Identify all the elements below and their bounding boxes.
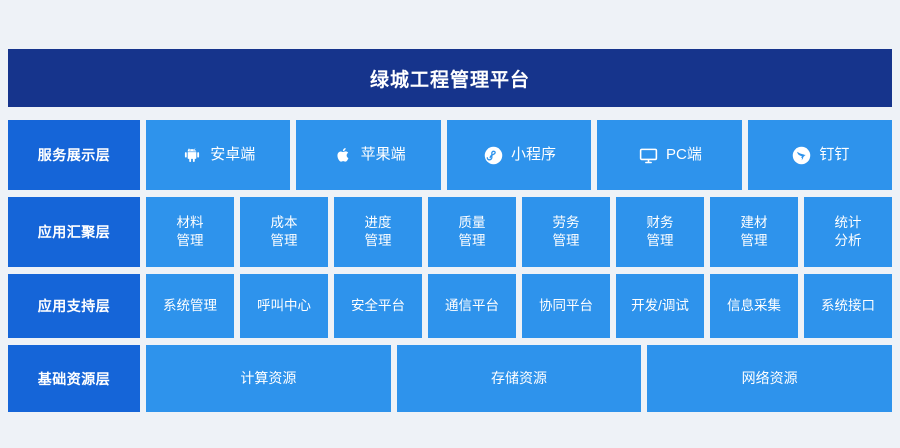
cell-label: 材料 管理: [177, 214, 204, 250]
cell-label: 苹果端: [361, 145, 406, 165]
layer-row-service-presentation: 服务展示层 安卓端 苹果端: [8, 120, 892, 190]
cell-label: 呼叫中心: [257, 297, 311, 315]
cell-call-center[interactable]: 呼叫中心: [240, 274, 328, 338]
cell-label: 通信平台: [445, 297, 499, 315]
cell-label: 安全平台: [351, 297, 405, 315]
cell-development-debugging[interactable]: 开发/调试: [616, 274, 704, 338]
page-title: 绿城工程管理平台: [370, 65, 530, 92]
cell-pc[interactable]: PC端: [597, 120, 741, 190]
apple-icon: [332, 144, 354, 166]
android-icon: [181, 144, 203, 166]
monitor-icon: [637, 144, 659, 166]
cell-building-material-management[interactable]: 建材 管理: [710, 197, 798, 267]
layer-row-application-support: 应用支持层 系统管理 呼叫中心 安全平台 通信平台 协同平台 开发/调试 信息采…: [8, 274, 892, 338]
cell-label: 计算资源: [240, 369, 296, 388]
cell-label: 劳务 管理: [553, 214, 580, 250]
cell-label: 进度 管理: [365, 214, 392, 250]
cell-finance-management[interactable]: 财务 管理: [616, 197, 704, 267]
cell-label: 信息采集: [727, 297, 781, 315]
cell-information-collection[interactable]: 信息采集: [710, 274, 798, 338]
cell-label: 小程序: [511, 145, 556, 165]
cell-communication-platform[interactable]: 通信平台: [428, 274, 516, 338]
cell-label: 协同平台: [539, 297, 593, 315]
cell-label: 财务 管理: [647, 214, 674, 250]
layer-cells-application-support: 系统管理 呼叫中心 安全平台 通信平台 协同平台 开发/调试 信息采集 系统接口: [146, 274, 892, 338]
layer-cells-application-aggregation: 材料 管理 成本 管理 进度 管理 质量 管理 劳务 管理 财务 管理 建材 管…: [146, 197, 892, 267]
layer-label-application-aggregation: 应用汇聚层: [8, 197, 140, 267]
dingtalk-icon: [790, 144, 812, 166]
cell-apple[interactable]: 苹果端: [296, 120, 440, 190]
cell-statistical-analysis[interactable]: 统计 分析: [804, 197, 892, 267]
cell-label: 成本 管理: [271, 214, 298, 250]
mini-program-icon: [482, 144, 504, 166]
cell-android[interactable]: 安卓端: [146, 120, 290, 190]
cell-quality-management[interactable]: 质量 管理: [428, 197, 516, 267]
cell-security-platform[interactable]: 安全平台: [334, 274, 422, 338]
architecture-diagram: 绿城工程管理平台 服务展示层 安卓端 苹果端: [0, 0, 900, 448]
cell-material-management[interactable]: 材料 管理: [146, 197, 234, 267]
cell-label: 质量 管理: [459, 214, 486, 250]
cell-label: 统计 分析: [835, 214, 862, 250]
layer-cells-service-presentation: 安卓端 苹果端 小程序: [146, 120, 892, 190]
cell-label: 系统管理: [163, 297, 217, 315]
cell-dingtalk[interactable]: 钉钉: [748, 120, 892, 190]
layer-row-application-aggregation: 应用汇聚层 材料 管理 成本 管理 进度 管理 质量 管理 劳务 管理 财务 管…: [8, 197, 892, 267]
platform-title-bar: 绿城工程管理平台: [8, 49, 892, 107]
cell-storage-resource[interactable]: 存储资源: [397, 345, 642, 412]
cell-network-resource[interactable]: 网络资源: [647, 345, 892, 412]
cell-label: 安卓端: [210, 145, 255, 165]
cell-mini-program[interactable]: 小程序: [447, 120, 591, 190]
layer-row-infrastructure-resource: 基础资源层 计算资源 存储资源 网络资源: [8, 345, 892, 412]
cell-computing-resource[interactable]: 计算资源: [146, 345, 391, 412]
cell-schedule-management[interactable]: 进度 管理: [334, 197, 422, 267]
layer-cells-infrastructure-resource: 计算资源 存储资源 网络资源: [146, 345, 892, 412]
cell-label: 系统接口: [821, 297, 875, 315]
cell-label: 钉钉: [819, 145, 849, 165]
cell-labor-management[interactable]: 劳务 管理: [522, 197, 610, 267]
cell-system-interface[interactable]: 系统接口: [804, 274, 892, 338]
cell-label: 网络资源: [742, 369, 798, 388]
cell-system-management[interactable]: 系统管理: [146, 274, 234, 338]
layer-label-service-presentation: 服务展示层: [8, 120, 140, 190]
layer-label-application-support: 应用支持层: [8, 274, 140, 338]
cell-collaboration-platform[interactable]: 协同平台: [522, 274, 610, 338]
cell-label: 存储资源: [491, 369, 547, 388]
cell-label: PC端: [666, 145, 702, 165]
cell-label: 开发/调试: [631, 297, 689, 315]
cell-cost-management[interactable]: 成本 管理: [240, 197, 328, 267]
layer-label-infrastructure-resource: 基础资源层: [8, 345, 140, 412]
cell-label: 建材 管理: [741, 214, 768, 250]
